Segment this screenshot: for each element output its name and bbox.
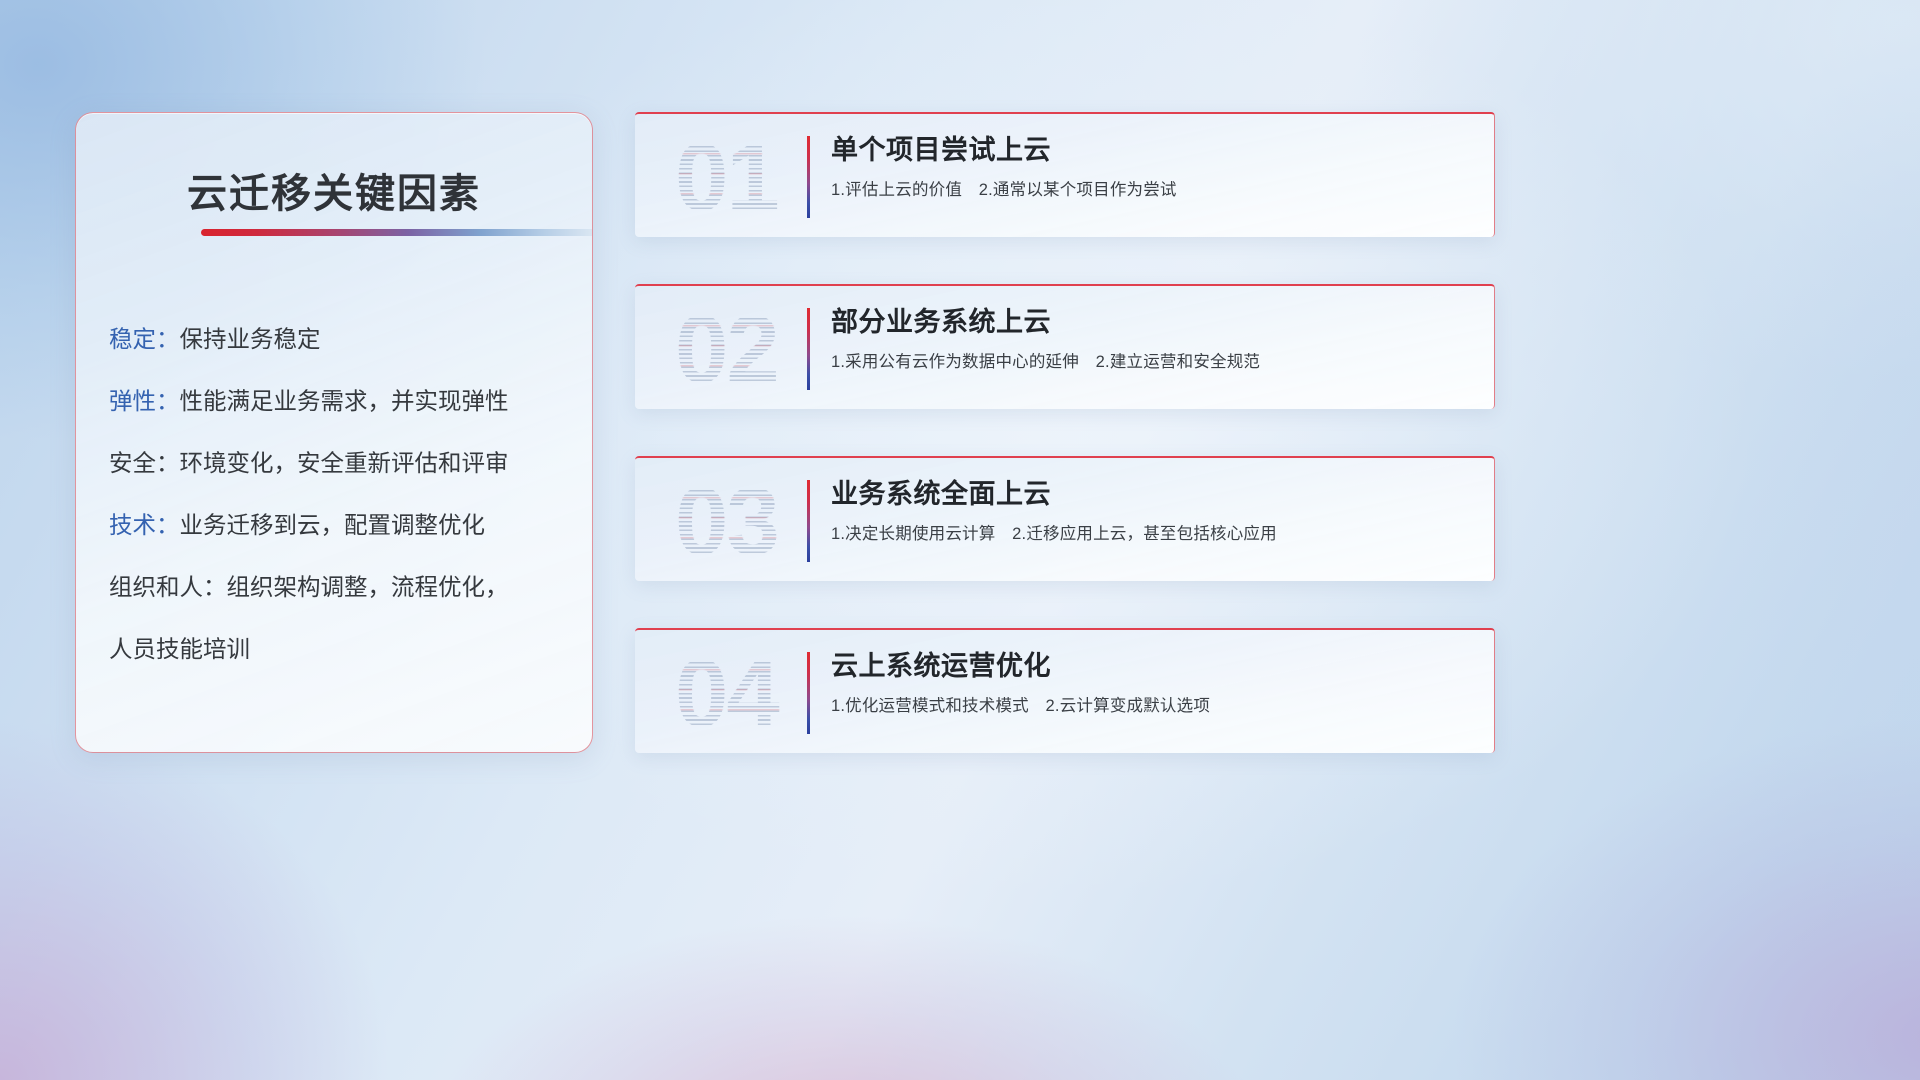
list-item-label: 安全： — [109, 452, 180, 476]
stage-card-04[interactable]: 04 04 云上系统运营优化 1.优化运营模式和技术模式 2.云计算变成默认选项 — [635, 628, 1495, 753]
list-item-label: 弹性： — [109, 390, 180, 414]
card-accent-divider — [807, 136, 810, 218]
list-item: 安全： 环境变化，安全重新评估和评审 — [109, 433, 572, 495]
card-body: 云上系统运营优化 1.优化运营模式和技术模式 2.云计算变成默认选项 — [831, 650, 1476, 716]
card-accent-divider — [807, 652, 810, 734]
list-item-text: 保持业务稳定 — [180, 328, 321, 352]
list-item-text: 业务迁移到云，配置调整优化 — [180, 514, 486, 538]
list-item: 技术： 业务迁移到云，配置调整优化 — [109, 495, 572, 557]
stage-number-watermark-tint: 01 — [675, 124, 840, 232]
list-item-text: 组织架构调整，流程优化， — [227, 576, 509, 600]
key-factors-panel: 云迁移关键因素 稳定： 保持业务稳定 弹性： 性能满足业务需求，并实现弹性 安全… — [75, 112, 593, 753]
card-body: 单个项目尝试上云 1.评估上云的价值 2.通常以某个项目作为尝试 — [831, 134, 1476, 200]
panel-title: 云迁移关键因素 — [76, 161, 592, 219]
list-item: 弹性： 性能满足业务需求，并实现弹性 — [109, 371, 572, 433]
card-body: 业务系统全面上云 1.决定长期使用云计算 2.迁移应用上云，甚至包括核心应用 — [831, 478, 1476, 544]
list-item-text: 环境变化，安全重新评估和评审 — [180, 452, 509, 476]
stage-card-03[interactable]: 03 03 业务系统全面上云 1.决定长期使用云计算 2.迁移应用上云，甚至包括… — [635, 456, 1495, 581]
key-factors-list: 稳定： 保持业务稳定 弹性： 性能满足业务需求，并实现弹性 安全： 环境变化，安… — [109, 309, 572, 681]
card-title: 单个项目尝试上云 — [831, 134, 1476, 166]
stage-card-01[interactable]: 01 01 单个项目尝试上云 1.评估上云的价值 2.通常以某个项目作为尝试 — [635, 112, 1495, 237]
card-accent-divider — [807, 308, 810, 390]
list-item: 稳定： 保持业务稳定 — [109, 309, 572, 371]
card-subtitle: 1.采用公有云作为数据中心的延伸 2.建立运营和安全规范 — [831, 348, 1476, 372]
card-title: 业务系统全面上云 — [831, 478, 1476, 510]
card-accent-divider — [807, 480, 810, 562]
card-subtitle: 1.优化运营模式和技术模式 2.云计算变成默认选项 — [831, 692, 1476, 716]
stage-card-02[interactable]: 02 02 部分业务系统上云 1.采用公有云作为数据中心的延伸 2.建立运营和安… — [635, 284, 1495, 409]
panel-title-underline — [201, 229, 593, 236]
stage-number-watermark-tint: 02 — [675, 296, 840, 404]
card-subtitle: 1.决定长期使用云计算 2.迁移应用上云，甚至包括核心应用 — [831, 520, 1476, 544]
list-item-label: 技术： — [109, 514, 180, 538]
list-item-continuation: 人员技能培训 — [109, 619, 572, 681]
card-title: 部分业务系统上云 — [831, 306, 1476, 338]
list-item-text: 性能满足业务需求，并实现弹性 — [180, 390, 509, 414]
card-body: 部分业务系统上云 1.采用公有云作为数据中心的延伸 2.建立运营和安全规范 — [831, 306, 1476, 372]
list-item: 组织和人： 组织架构调整，流程优化， — [109, 557, 572, 619]
card-subtitle: 1.评估上云的价值 2.通常以某个项目作为尝试 — [831, 176, 1476, 200]
stage-number-watermark-tint: 04 — [675, 640, 840, 748]
list-item-text: 人员技能培训 — [109, 638, 250, 662]
stage-number-watermark-tint: 03 — [675, 468, 840, 576]
list-item-label: 组织和人： — [109, 576, 227, 600]
list-item-label: 稳定： — [109, 328, 180, 352]
card-title: 云上系统运营优化 — [831, 650, 1476, 682]
